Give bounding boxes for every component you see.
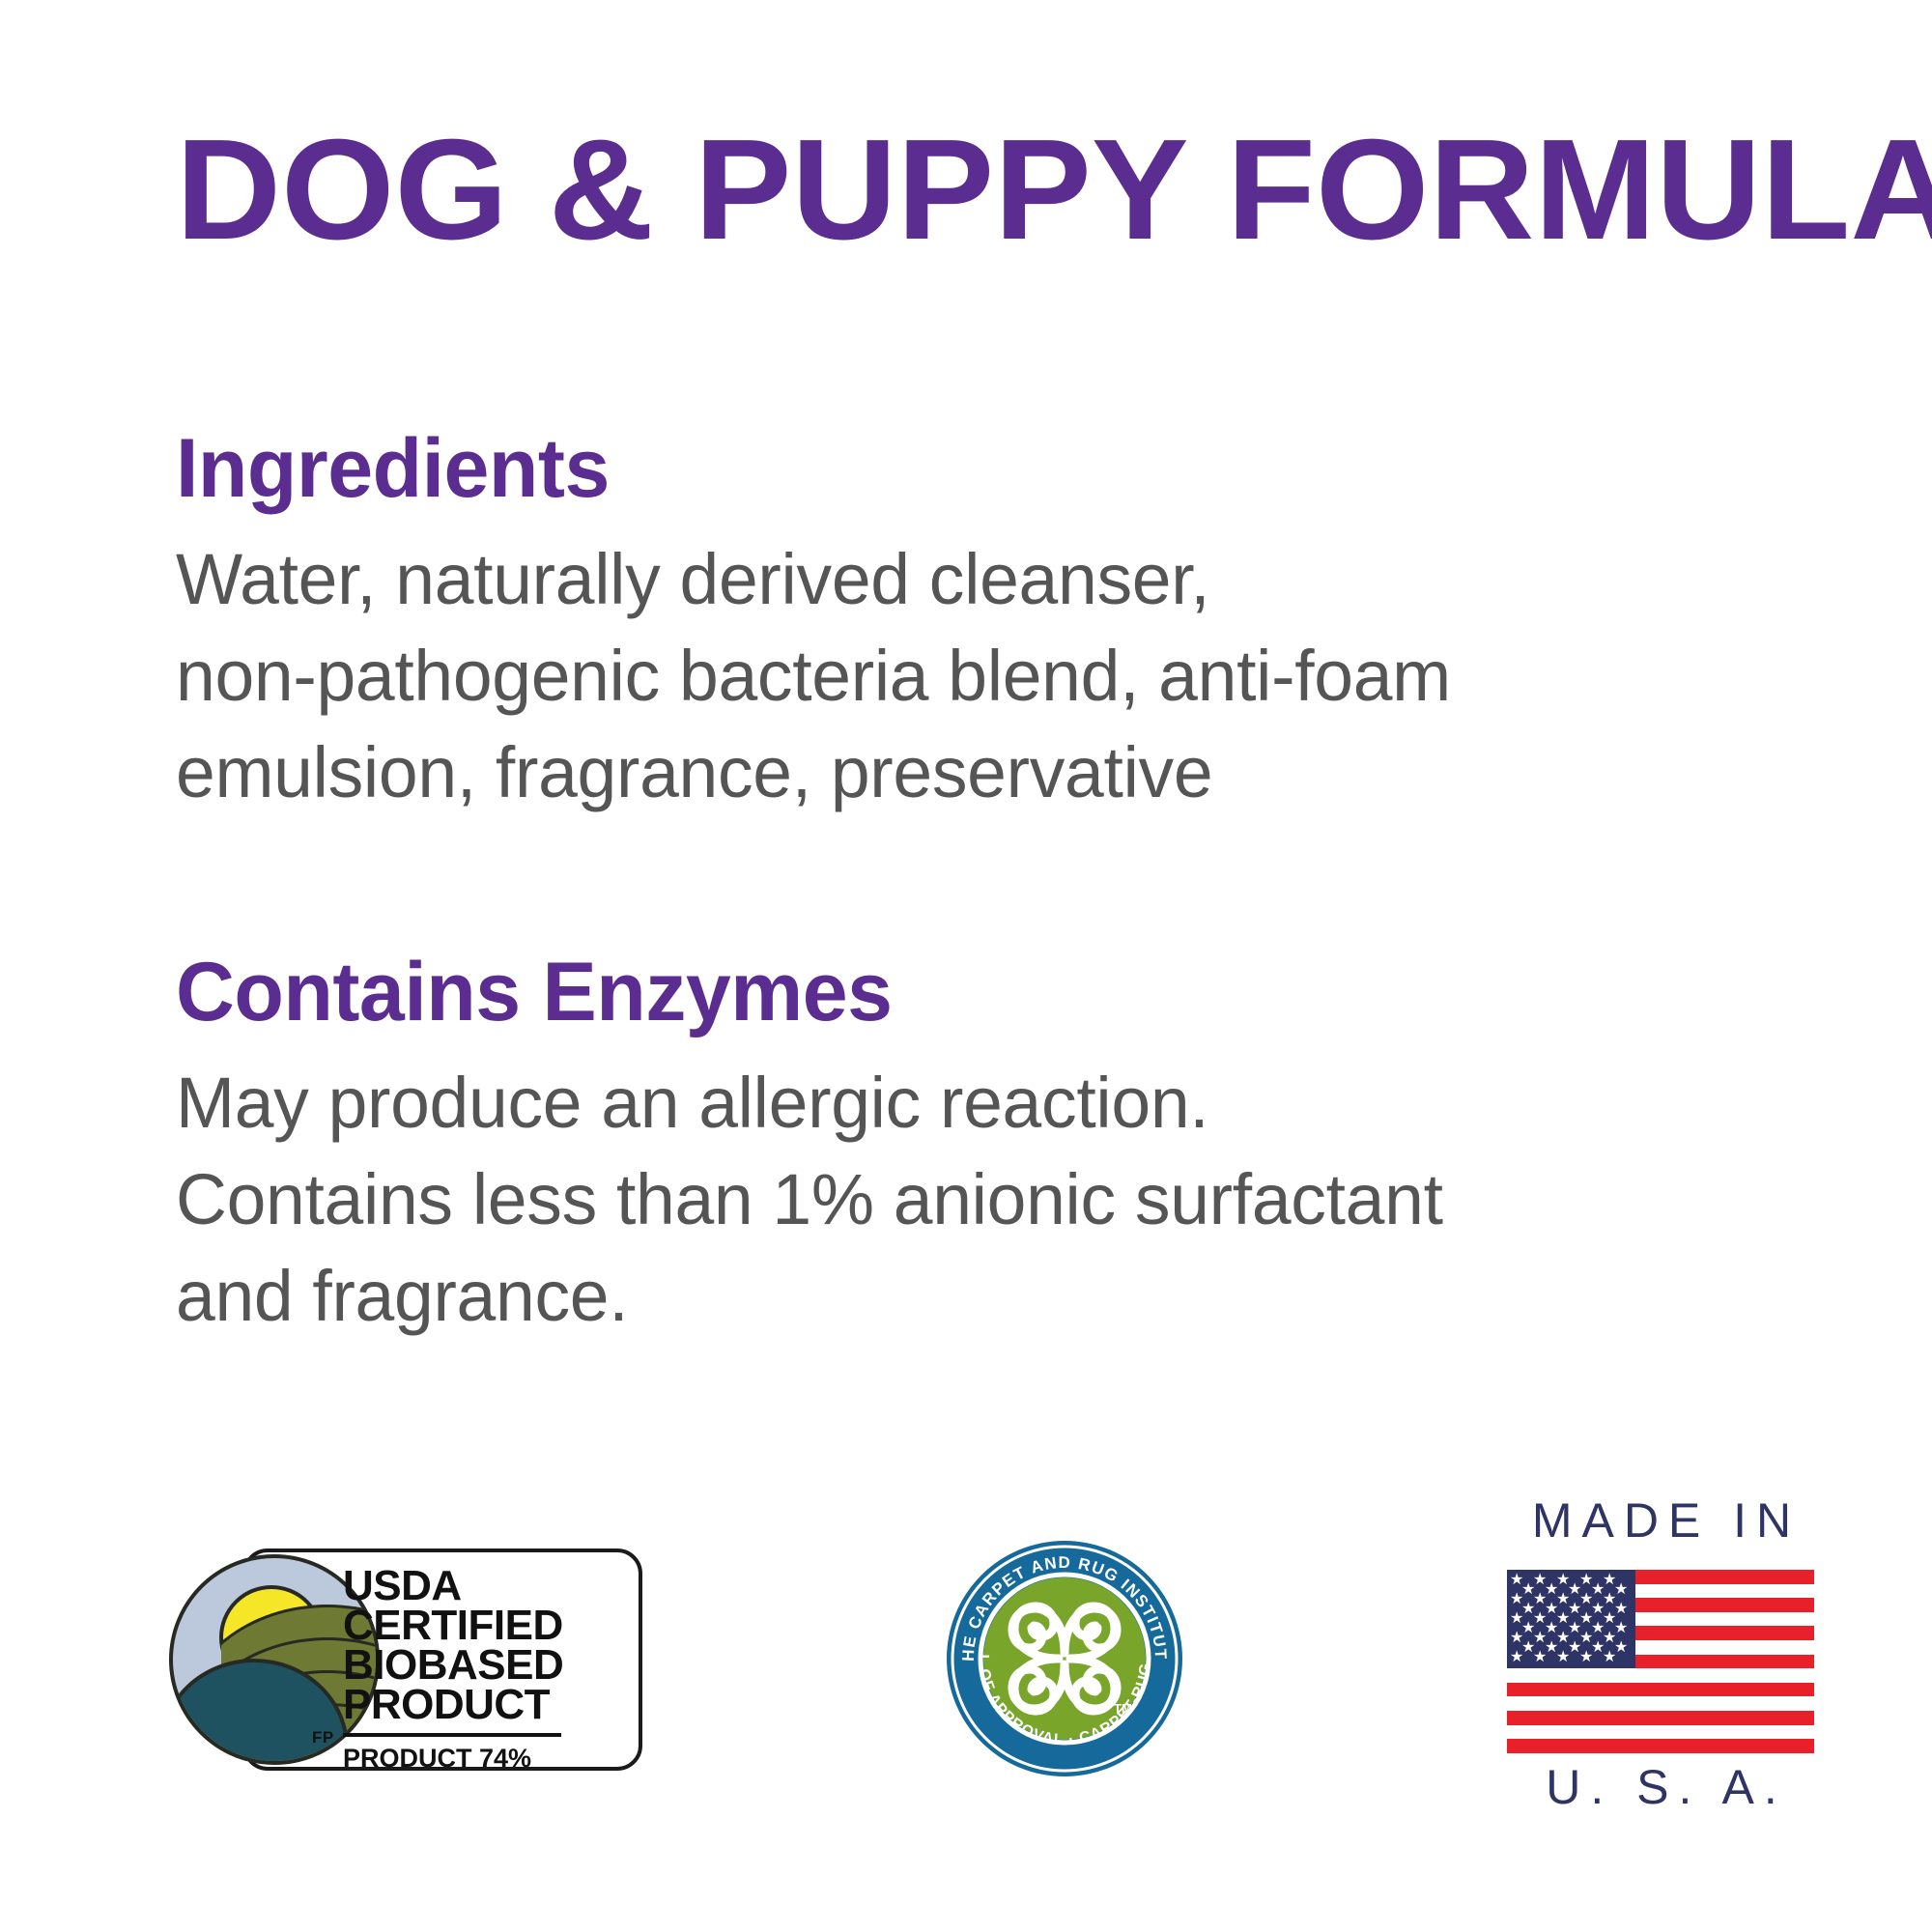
label-panel: DOG & PUPPY FORMULA Ingredients Water, n… — [0, 0, 1932, 1932]
usda-text-block: USDA CERTIFIED BIOBASED PRODUCT PRODUCT … — [343, 1566, 565, 1773]
cri-seal-of-approval-icon: THE CARPET AND RUG INSTITUTE SEAL OF APP… — [945, 1539, 1184, 1778]
ingredients-line-3: emulsion, fragrance, preservative — [176, 724, 1821, 821]
enzymes-line-1: May produce an allergic reaction. — [176, 1055, 1821, 1151]
section-contains-enzymes: Contains Enzymes May produce an allergic… — [176, 947, 1837, 1345]
usda-line-4: PRODUCT — [343, 1685, 565, 1724]
usda-biobased-icon: FP USDA CERTIFIED BIOBASED PRODUCT PRODU… — [169, 1548, 642, 1771]
usda-line-3: BIOBASED — [343, 1645, 565, 1685]
usda-fp-mark: FP — [312, 1728, 334, 1747]
enzymes-heading: Contains Enzymes — [176, 947, 1804, 1037]
us-flag-icon: ★ ★ ★ ★ ★ ★ ★ ★ ★ ★ ★ ★ ★ ★ ★ ★ ★ — [1507, 1570, 1814, 1753]
usda-percent: PRODUCT 74% — [343, 1744, 565, 1773]
enzymes-body: May produce an allergic reaction. Contai… — [176, 1055, 1821, 1345]
usda-line-2: CERTIFIED — [343, 1605, 565, 1645]
usda-divider — [343, 1733, 561, 1737]
enzymes-line-2: Contains less than 1% anionic surfactant — [176, 1151, 1821, 1248]
cri-trademark: TM — [1114, 1701, 1132, 1716]
made-in-label: MADE IN — [1499, 1494, 1824, 1547]
ingredients-heading: Ingredients — [176, 423, 1804, 514]
enzymes-line-3: and fragrance. — [176, 1248, 1821, 1345]
flag-canton: ★ ★ ★ ★ ★ ★ ★ ★ ★ ★ ★ ★ ★ ★ ★ ★ ★ — [1507, 1570, 1635, 1668]
section-ingredients: Ingredients Water, naturally derived cle… — [176, 423, 1837, 821]
ingredients-body: Water, naturally derived cleanser, non-p… — [176, 531, 1821, 821]
usa-label: U. S. A. — [1499, 1761, 1824, 1813]
certification-logo-row: FP USDA CERTIFIED BIOBASED PRODUCT PRODU… — [0, 1492, 1932, 1879]
ingredients-line-2: non-pathogenic bacteria blend, anti-foam — [176, 628, 1821, 724]
ingredients-line-1: Water, naturally derived cleanser, — [176, 531, 1821, 628]
usda-line-1: USDA — [343, 1566, 565, 1605]
made-in-usa-icon: MADE IN ★ ★ ★ ★ ★ ★ ★ ★ ★ — [1499, 1492, 1824, 1821]
page-title: DOG & PUPPY FORMULA — [176, 118, 1851, 263]
